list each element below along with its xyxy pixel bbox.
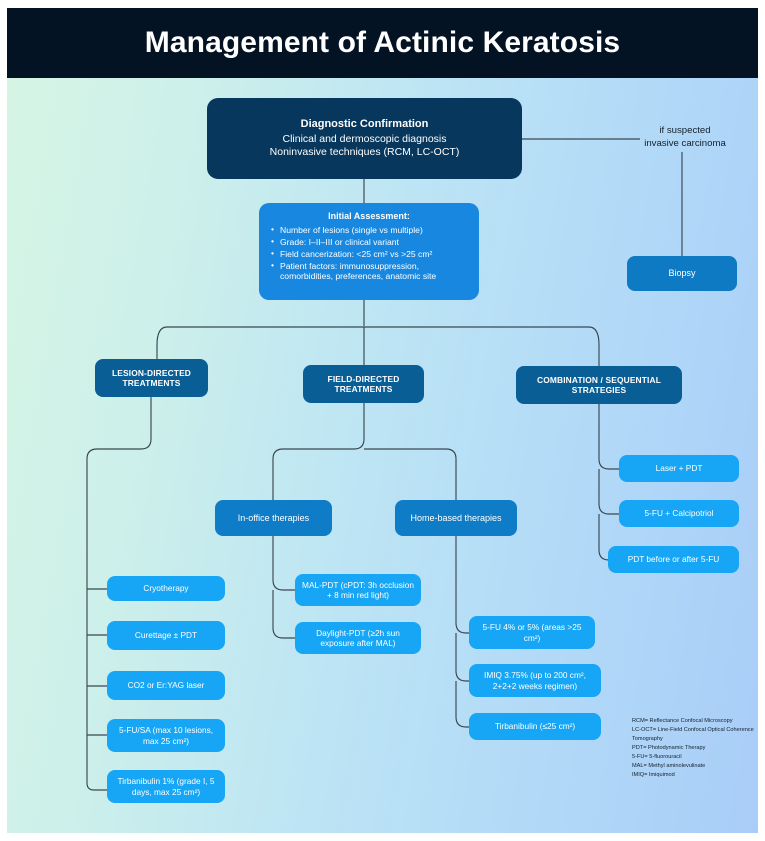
node-cryotherapy[interactable]: Cryotherapy	[107, 576, 225, 601]
subgroup-label: Home-based therapies	[395, 513, 517, 524]
diagnostic-heading: Diagnostic Confirmation	[217, 118, 512, 131]
wire-field-inoffice	[273, 403, 364, 500]
node-curettage-pdt[interactable]: Curettage ± PDT	[107, 621, 225, 650]
node-in-office-therapies[interactable]: In-office therapies	[215, 500, 332, 536]
node-imiquimod-375[interactable]: IMIQ 3.75% (up to 200 cm², 2+2+2 weeks r…	[469, 664, 601, 697]
leaf-label: Laser + PDT	[624, 463, 734, 473]
wire-comb-laserpdt	[599, 404, 619, 469]
node-tirbanibulin-field[interactable]: Tirbanibulin (≤25 cm²)	[469, 713, 601, 740]
node-mal-pdt[interactable]: MAL-PDT (cPDT: 3h occlusion + 8 min red …	[295, 574, 421, 606]
leaf-label: Tirbanibulin (≤25 cm²)	[474, 721, 596, 731]
node-5fu-plus-calcipotriol[interactable]: 5-FU + Calcipotriol	[619, 500, 739, 527]
biopsy-label: Biopsy	[627, 268, 737, 279]
wire-field-home	[364, 449, 456, 500]
flowchart-canvas: Management of Actinic Keratosis	[0, 0, 765, 841]
leaf-label: CO2 or Er:YAG laser	[112, 680, 220, 690]
node-home-based-therapies[interactable]: Home-based therapies	[395, 500, 517, 536]
leaf-label: 5-FU 4% or 5% (areas >25 cm²)	[474, 622, 590, 642]
wire-trunk-bus	[157, 327, 599, 345]
leaf-label: MAL-PDT (cPDT: 3h occlusion + 8 min red …	[300, 580, 416, 600]
legend-entry: 5-FU= 5-fluorouracil	[632, 753, 754, 762]
category-label: FIELD-DIRECTED TREATMENTS	[303, 374, 424, 395]
category-label: COMBINATION / SEQUENTIAL STRATEGIES	[516, 375, 682, 396]
node-daylight-pdt[interactable]: Daylight-PDT (≥2h sun exposure after MAL…	[295, 622, 421, 654]
leaf-label: 5-FU/SA (max 10 lesions, max 25 cm²)	[112, 725, 220, 745]
list-item: Grade: I–II–III or clinical variant	[280, 237, 469, 247]
legend-entry: MAL= Methyl aminolevulinate	[632, 762, 754, 771]
node-category-field-directed[interactable]: FIELD-DIRECTED TREATMENTS	[303, 365, 424, 403]
node-diagnostic-confirmation[interactable]: Diagnostic Confirmation Clinical and der…	[207, 98, 522, 179]
node-initial-assessment[interactable]: Initial Assessment: Number of lesions (s…	[259, 203, 479, 300]
list-item: Field cancerization: <25 cm² vs >25 cm²	[280, 249, 469, 259]
leaf-label: Cryotherapy	[112, 583, 220, 593]
node-biopsy[interactable]: Biopsy	[627, 256, 737, 291]
list-item: Number of lesions (single vs multiple)	[280, 225, 469, 235]
leaf-label: 5-FU + Calcipotriol	[624, 508, 734, 518]
node-category-lesion-directed[interactable]: LESION-DIRECTED TREATMENTS	[95, 359, 208, 397]
node-tirbanibulin-1pct[interactable]: Tirbanibulin 1% (grade I, 5 days, max 25…	[107, 770, 225, 803]
node-co2-eryag-laser[interactable]: CO2 or Er:YAG laser	[107, 671, 225, 700]
leaf-label: Curettage ± PDT	[112, 630, 220, 640]
wire-inoffice-daylight	[273, 590, 295, 638]
node-laser-plus-pdt[interactable]: Laser + PDT	[619, 455, 739, 482]
branch-condition-line-1: if suspected	[618, 125, 752, 138]
wire-comb-fucalci	[599, 469, 619, 514]
node-category-combination[interactable]: COMBINATION / SEQUENTIAL STRATEGIES	[516, 366, 682, 404]
initial-assessment-list: Number of lesions (single vs multiple) G…	[269, 225, 469, 283]
node-pdt-before-after-5fu[interactable]: PDT before or after 5-FU	[608, 546, 739, 573]
leaf-label: Daylight-PDT (≥2h sun exposure after MAL…	[300, 628, 416, 648]
leaf-label: IMIQ 3.75% (up to 200 cm², 2+2+2 weeks r…	[474, 670, 596, 690]
legend-entry: LC-OCT= Line-Field Confocal Optical Cohe…	[632, 726, 754, 744]
node-5fu-4-5-percent[interactable]: 5-FU 4% or 5% (areas >25 cm²)	[469, 616, 595, 649]
subgroup-label: In-office therapies	[215, 513, 332, 524]
diagnostic-line-1: Clinical and dermoscopic diagnosis	[217, 133, 512, 146]
list-item: Patient factors: immunosuppression, como…	[280, 261, 469, 282]
wire-home-imiq	[456, 633, 469, 681]
abbreviations-legend: RCM= Reflectance Confocal Microscopy LC-…	[632, 717, 754, 780]
legend-entry: IMIQ= Imiquimod	[632, 771, 754, 780]
leaf-label: Tirbanibulin 1% (grade I, 5 days, max 25…	[112, 776, 220, 796]
branch-condition-label: if suspected invasive carcinoma	[618, 125, 752, 151]
category-label: LESION-DIRECTED TREATMENTS	[95, 368, 208, 389]
wire-home-tirb	[456, 681, 469, 727]
diagnostic-line-2: Noninvasive techniques (RCM, LC-OCT)	[217, 146, 512, 159]
legend-entry: RCM= Reflectance Confocal Microscopy	[632, 717, 754, 726]
branch-condition-line-2: invasive carcinoma	[618, 138, 752, 151]
legend-entry: PDT= Photodynamic Therapy	[632, 744, 754, 753]
wire-inoffice-malpdt	[273, 536, 295, 590]
wire-home-fu	[456, 536, 469, 633]
initial-assessment-heading: Initial Assessment:	[269, 211, 469, 222]
leaf-label: PDT before or after 5-FU	[613, 554, 734, 564]
node-5fu-sa[interactable]: 5-FU/SA (max 10 lesions, max 25 cm²)	[107, 719, 225, 752]
